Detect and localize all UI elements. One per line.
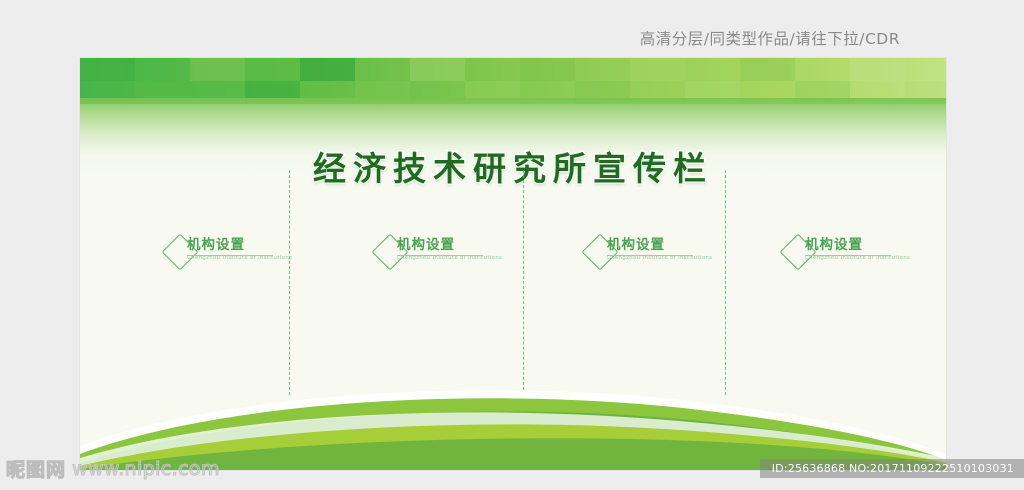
section-label-row: 机构设置 Chengzhou Institute of institutions… — [80, 236, 946, 276]
section-underline — [805, 255, 891, 256]
header-mosaic-band — [80, 58, 946, 104]
poster-title: 经济技术研究所宣传栏 — [313, 142, 713, 190]
section-block-3[interactable]: 机构设置 Chengzhou Institute of institutions — [587, 236, 767, 276]
section-label-2: 机构设置 Chengzhou Institute of institutions — [397, 236, 502, 262]
asset-id-bar: ID:25636868 NO:20171109222510103031 — [760, 459, 1024, 478]
watermark-logo: 昵图网 — [6, 455, 66, 482]
top-caption-text: 高清分层/同类型作品/请往下拉/CDR — [640, 27, 900, 49]
poster-panel: 经济技术研究所宣传栏 机构设置 Chengzhou Institute of i… — [80, 58, 946, 470]
section-label-3: 机构设置 Chengzhou Institute of institutions — [607, 236, 712, 262]
poster-title-wrap: 经济技术研究所宣传栏 — [80, 142, 946, 190]
section-block-2[interactable]: 机构设置 Chengzhou Institute of institutions — [377, 236, 557, 276]
section-label-4: 机构设置 Chengzhou Institute of institutions — [805, 236, 910, 262]
section-block-4[interactable]: 机构设置 Chengzhou Institute of institutions — [785, 236, 946, 276]
section-label-1: 机构设置 Chengzhou Institute of institutions — [187, 236, 292, 262]
wave-decoration — [80, 350, 946, 470]
poster-canvas: 高清分层/同类型作品/请往下拉/CDR — [0, 0, 1024, 490]
section-title-cn: 机构设置 — [805, 236, 910, 254]
section-underline — [607, 255, 693, 256]
section-title-cn: 机构设置 — [607, 236, 712, 254]
mosaic-pattern — [80, 58, 946, 104]
section-underline — [187, 255, 273, 256]
section-title-cn: 机构设置 — [187, 236, 292, 254]
section-title-cn: 机构设置 — [397, 236, 502, 254]
section-block-1[interactable]: 机构设置 Chengzhou Institute of institutions — [167, 236, 347, 276]
section-underline — [397, 255, 483, 256]
